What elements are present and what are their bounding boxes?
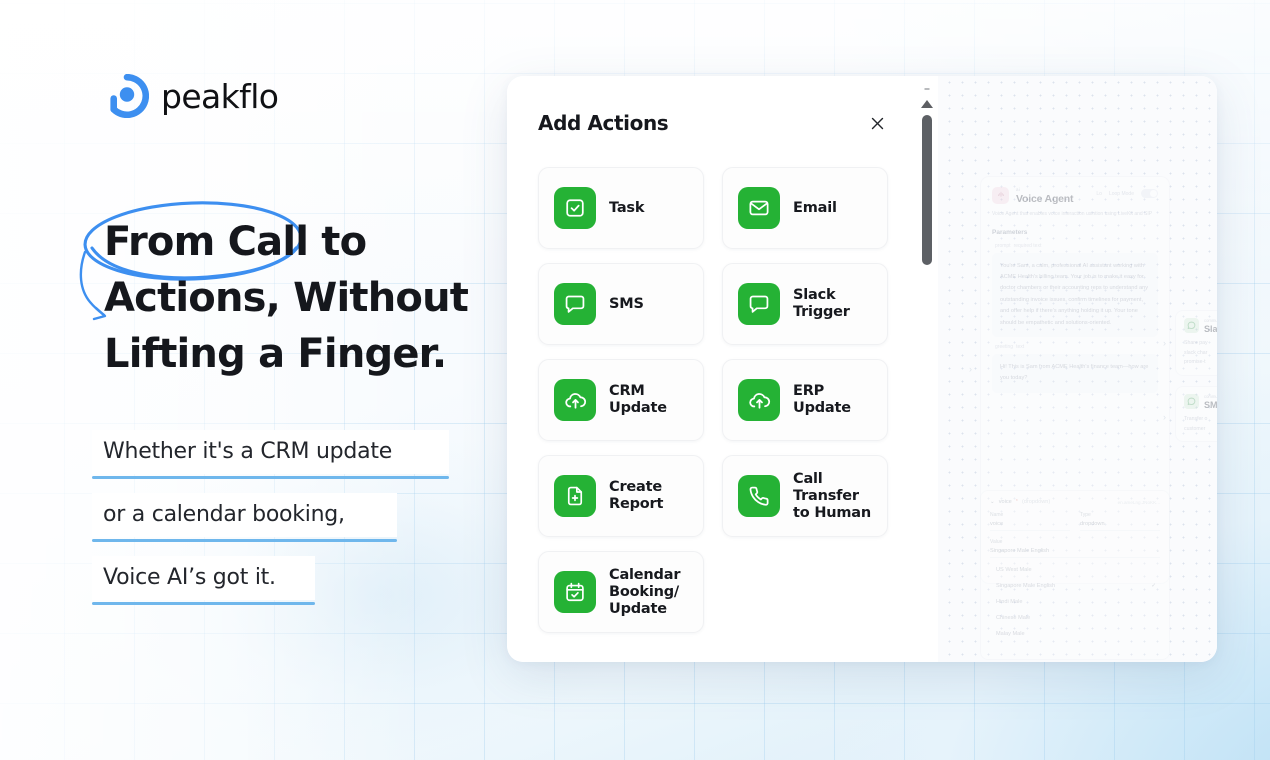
envelope-icon xyxy=(738,187,780,229)
action-label: Slack Trigger xyxy=(793,287,850,321)
action-label: SMS xyxy=(609,296,644,313)
action-card-erp-update[interactable]: ERP Update xyxy=(722,359,888,441)
voice-option-malay-male[interactable]: Malay Male xyxy=(990,626,1160,642)
voice-agent-title: Voice Agent xyxy=(1016,193,1089,205)
calendar-check-icon xyxy=(554,571,596,613)
voice-agent-mini-label: Lo xyxy=(1096,191,1102,197)
action-label: Create Report xyxy=(609,479,663,513)
scroll-up-arrow-icon[interactable] xyxy=(921,100,933,108)
node-port-right-icon: › xyxy=(1163,338,1166,348)
slack-node-title: Slack xyxy=(1204,324,1217,334)
cloud-upload-icon xyxy=(554,379,596,421)
chevron-down-icon: ⌄ xyxy=(1156,548,1160,554)
modal-header: Add Actions xyxy=(507,106,917,140)
prompt-label-text: prompt xyxy=(995,243,1011,249)
value-label: Value xyxy=(990,539,1160,545)
prompt-textarea[interactable]: You're Sam, a calm, professional AI assi… xyxy=(992,253,1158,338)
voice-option-label: US West Male xyxy=(996,567,1032,573)
action-card-create-report[interactable]: Create Report xyxy=(538,455,704,537)
value-select[interactable]: Singapore Male English ⌄ xyxy=(990,548,1160,558)
slack-node-kicker: communi xyxy=(1204,318,1217,323)
scrollbar-thumb[interactable] xyxy=(922,115,932,265)
cloud-upload-icon xyxy=(738,379,780,421)
chevron-down-icon: ⌄ xyxy=(990,499,995,505)
page-title: From Call to Actions, Without Lifting a … xyxy=(104,214,504,382)
subtext-underline-1 xyxy=(92,476,449,479)
close-icon[interactable] xyxy=(865,111,889,135)
sms-node-title: SMS xyxy=(1204,400,1217,410)
voice-agent-description: Voice Agent that enables voice interacti… xyxy=(992,211,1158,219)
action-label: Task xyxy=(609,200,644,217)
subtext-line-2: or a calendar booking, xyxy=(92,493,397,542)
parameters-heading: Parameters xyxy=(992,229,1158,236)
slack-node-body: Share pay slack char promise-t xyxy=(1184,339,1217,368)
action-card-calendar-booking-update[interactable]: Calendar Booking/ Update xyxy=(538,551,704,633)
type-select-value: dropdown xyxy=(1080,521,1105,527)
brand-name: peakflo xyxy=(161,77,278,116)
voice-option-singapore-male-english[interactable]: Singapore Male English✓ xyxy=(990,578,1160,594)
node-port-left-icon: › xyxy=(969,364,972,374)
document-plus-icon xyxy=(554,475,596,517)
modal-title: Add Actions xyxy=(538,111,668,135)
sms-node-icon xyxy=(1184,394,1199,409)
voice-option-label: Chinese Male xyxy=(996,615,1030,621)
sms-node-kicker: communi xyxy=(1204,394,1217,399)
action-card-call-transfer-to-human[interactable]: Call Transfer to Human xyxy=(722,455,888,537)
peakflo-circle-logo-icon xyxy=(105,74,149,118)
headline-line-3: Lifting a Finger. xyxy=(104,326,504,382)
action-card-slack-trigger[interactable]: Slack Trigger xyxy=(722,263,888,345)
chat-bubble-icon xyxy=(554,283,596,325)
subtext-underline-3 xyxy=(92,602,315,605)
subtext-underline-2 xyxy=(92,539,397,542)
subtext-line-3: Voice AI’s got it. xyxy=(92,556,315,605)
voice-dropdown-header[interactable]: ⌄ voice * (dropdown) en.ameLng.JNoKK... xyxy=(990,499,1160,505)
headline-line-2: Actions, Without xyxy=(104,270,504,326)
voice-dropdown-title: voice xyxy=(999,499,1012,505)
voice-agent-icon xyxy=(992,187,1009,204)
voice-dropdown-panel[interactable]: ⌄ voice * (dropdown) en.ameLng.JNoKK... … xyxy=(980,490,1170,660)
action-label: CRM Update xyxy=(609,383,667,417)
phone-icon xyxy=(738,475,780,517)
greeting-textarea[interactable]: Hi! This is Sam from ACME Health's finan… xyxy=(992,354,1158,392)
chevron-down-icon: ⌄ xyxy=(1156,521,1160,527)
action-card-sms[interactable]: SMS xyxy=(538,263,704,345)
voice-option-us-west-male[interactable]: US West Male xyxy=(990,562,1160,578)
check-icon: ✓ xyxy=(1151,583,1156,589)
greeting-label-text: greeting xyxy=(995,344,1013,350)
chat-bubble-icon xyxy=(738,283,780,325)
action-card-crm-update[interactable]: CRM Update xyxy=(538,359,704,441)
name-input[interactable]: voice xyxy=(990,521,1070,531)
sms-node-card[interactable]: communi SMS Transfer o customer xyxy=(1175,386,1217,442)
voice-dropdown-meta: en.ameLng.JNoKK... xyxy=(1118,500,1160,505)
sms-node-body: Transfer o customer xyxy=(1184,415,1217,434)
action-label: ERP Update xyxy=(793,383,851,417)
slack-node-icon xyxy=(1184,318,1199,333)
hero-section: peakflo From Call to Actions, Without Li… xyxy=(0,0,520,760)
loop-mode-label: Loop Mode xyxy=(1109,191,1134,197)
greeting-meta: text xyxy=(1016,344,1024,350)
app-window: ai Voice Agent Lo Loop Mode Voice Agent … xyxy=(507,76,1217,662)
action-card-task[interactable]: Task xyxy=(538,167,704,249)
greeting-label: greetingtext xyxy=(992,344,1158,350)
scrollbar-tick xyxy=(925,88,930,90)
action-label: Call Transfer to Human xyxy=(793,471,871,522)
voice-option-label: Hindi Male xyxy=(996,599,1022,605)
brand-logo[interactable]: peakflo xyxy=(105,74,278,118)
action-label: Calendar Booking/ Update xyxy=(609,567,680,618)
prompt-meta: required text xyxy=(1014,243,1042,249)
voice-option-label: Malay Male xyxy=(996,631,1025,637)
prompt-label: promptrequired text xyxy=(992,243,1158,249)
action-label: Email xyxy=(793,200,837,217)
type-select[interactable]: dropdown ⌄ xyxy=(1080,521,1160,531)
required-asterisk: * xyxy=(1016,499,1018,505)
subtext-line-3-text: Voice AI’s got it. xyxy=(92,556,315,600)
hero-subtext: Whether it's a CRM update or a calendar … xyxy=(92,430,492,619)
add-actions-modal: Add Actions Task xyxy=(507,76,917,662)
name-label: Name xyxy=(990,512,1070,518)
value-select-value: Singapore Male English xyxy=(990,548,1049,554)
subtext-line-2-text: or a calendar booking, xyxy=(92,493,397,537)
action-card-email[interactable]: Email xyxy=(722,167,888,249)
subtext-line-1: Whether it's a CRM update xyxy=(92,430,449,479)
actions-grid: Task Email xyxy=(507,140,917,633)
loop-mode-toggle[interactable] xyxy=(1141,189,1158,198)
task-checkbox-icon xyxy=(554,187,596,229)
voice-agent-kicker: ai xyxy=(1016,187,1089,192)
voice-dropdown-type: (dropdown) xyxy=(1022,499,1050,505)
page-root: peakflo From Call to Actions, Without Li… xyxy=(0,0,1270,760)
voice-agent-header: ai Voice Agent Lo Loop Mode xyxy=(992,187,1158,205)
slack-node-card[interactable]: communi Slack Share pay slack char promi… xyxy=(1175,310,1217,376)
headline-line-1: From Call to xyxy=(104,214,504,270)
voice-option-hindi-male[interactable]: Hindi Male xyxy=(990,594,1160,610)
voice-option-label: Singapore Male English xyxy=(996,583,1055,589)
node-port-right-icon: › xyxy=(1163,412,1166,422)
voice-option-chinese-male[interactable]: Chinese Male xyxy=(990,610,1160,626)
subtext-line-1-text: Whether it's a CRM update xyxy=(92,430,449,474)
modal-scrollbar[interactable] xyxy=(916,76,938,662)
type-label: Type xyxy=(1080,512,1160,518)
